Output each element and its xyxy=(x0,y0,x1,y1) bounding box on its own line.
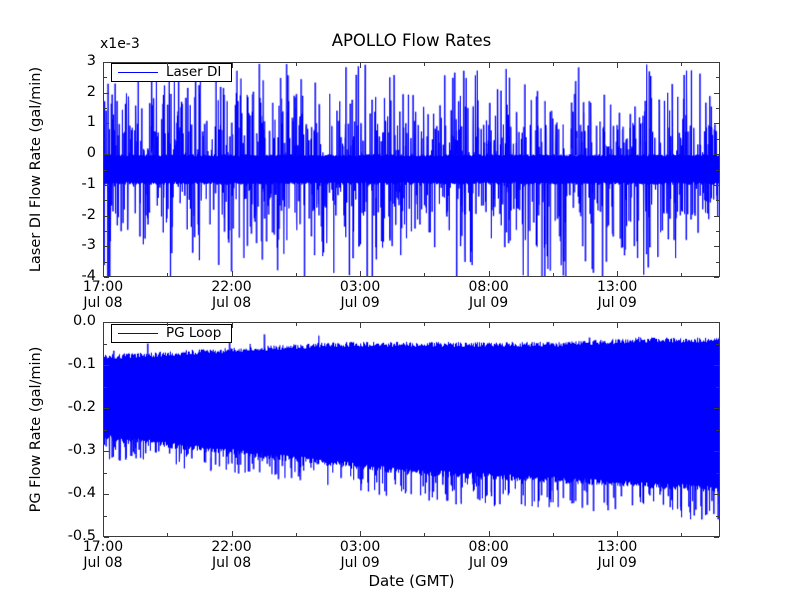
x-tick-time: 13:00 xyxy=(597,539,637,555)
x-axis-tick-mark xyxy=(424,323,425,326)
pg-loop-series-canvas xyxy=(104,323,719,536)
y-axis-tick-mark xyxy=(714,62,719,63)
x-tick-date: Jul 09 xyxy=(439,555,539,571)
y-axis-tick-mark xyxy=(714,216,719,217)
x-axis-tick-mark xyxy=(360,323,361,328)
laser-di-series-canvas xyxy=(104,63,719,276)
bottom-panel-legend: PG Loop xyxy=(111,324,232,343)
y-axis-tick-mark xyxy=(714,365,719,366)
x-axis-tick-mark xyxy=(232,271,233,276)
x-axis-tick-mark xyxy=(167,63,168,66)
top-panel-y-tick-label: -3 xyxy=(0,238,104,253)
legend-line-swatch-laser-di xyxy=(118,72,158,73)
y-axis-tick-mark xyxy=(716,344,719,345)
y-axis-tick-mark xyxy=(104,451,109,452)
y-axis-tick-mark xyxy=(714,154,719,155)
x-axis-tick-mark xyxy=(489,63,490,68)
y-axis-tick-mark xyxy=(104,262,107,263)
y-axis-exponent-label: x1e-3 xyxy=(100,36,140,52)
y-axis-tick-mark xyxy=(714,451,719,452)
x-axis-tick-mark xyxy=(617,531,618,536)
x-tick-date: Jul 09 xyxy=(439,295,539,311)
top-panel-y-tick-label: 1 xyxy=(0,115,104,130)
y-axis-tick-mark xyxy=(716,77,719,78)
legend-label-pg-loop: PG Loop xyxy=(166,326,225,341)
x-axis-tick-mark xyxy=(617,271,618,276)
y-axis-tick-mark xyxy=(714,494,719,495)
x-axis-tick-mark xyxy=(360,271,361,276)
x-tick-time: 08:00 xyxy=(468,279,508,295)
x-tick-time: 17:00 xyxy=(83,279,123,295)
y-axis-tick-mark xyxy=(104,344,107,345)
x-axis-label: Date (GMT) xyxy=(103,572,720,590)
x-axis-tick-mark xyxy=(489,531,490,536)
y-axis-tick-mark xyxy=(714,277,719,278)
x-axis-tick-mark xyxy=(617,323,618,328)
y-axis-tick-mark xyxy=(716,262,719,263)
y-axis-tick-mark xyxy=(104,408,109,409)
x-axis-tick-label: 08:00Jul 09 xyxy=(439,539,539,571)
x-axis-tick-label: 22:00Jul 08 xyxy=(182,539,282,571)
y-axis-tick-mark xyxy=(714,322,719,323)
x-axis-tick-mark xyxy=(296,63,297,66)
x-tick-time: 03:00 xyxy=(340,539,380,555)
x-tick-date: Jul 09 xyxy=(310,555,410,571)
x-axis-tick-mark xyxy=(617,63,618,68)
y-axis-tick-mark xyxy=(104,246,109,247)
y-axis-tick-mark xyxy=(104,231,107,232)
y-axis-tick-mark xyxy=(104,473,107,474)
x-axis-tick-mark xyxy=(360,63,361,68)
x-axis-tick-mark xyxy=(103,531,104,536)
x-axis-tick-label: 17:00Jul 08 xyxy=(53,279,153,311)
y-axis-tick-mark xyxy=(714,93,719,94)
x-axis-tick-mark xyxy=(103,323,104,328)
x-axis-tick-mark xyxy=(103,63,104,68)
bottom-panel-y-tick-label: -0.4 xyxy=(0,486,104,501)
y-axis-tick-mark xyxy=(714,537,719,538)
x-axis-tick-mark xyxy=(681,273,682,276)
x-axis-tick-label: 08:00Jul 09 xyxy=(439,279,539,311)
x-axis-tick-mark xyxy=(489,271,490,276)
top-panel-legend: Laser DI xyxy=(111,63,232,82)
x-tick-time: 13:00 xyxy=(597,279,637,295)
top-panel-y-tick-label: -1 xyxy=(0,177,104,192)
y-axis-tick-mark xyxy=(104,123,109,124)
x-axis-tick-mark xyxy=(103,271,104,276)
x-axis-tick-mark xyxy=(553,63,554,66)
figure-canvas: APOLLO Flow Rates x1e-3 Laser DI Flow Ra… xyxy=(0,0,800,600)
x-axis-tick-mark xyxy=(232,531,233,536)
x-tick-date: Jul 08 xyxy=(182,555,282,571)
x-tick-date: Jul 09 xyxy=(310,295,410,311)
y-axis-tick-mark xyxy=(104,494,109,495)
x-tick-time: 22:00 xyxy=(211,279,251,295)
x-axis-tick-mark xyxy=(296,323,297,326)
x-axis-tick-mark xyxy=(681,63,682,66)
x-axis-tick-mark xyxy=(167,533,168,536)
x-axis-tick-mark xyxy=(489,323,490,328)
x-axis-tick-mark xyxy=(424,273,425,276)
x-tick-date: Jul 09 xyxy=(567,555,667,571)
x-axis-tick-mark xyxy=(360,531,361,536)
bottom-panel-y-tick-label: -0.1 xyxy=(0,357,104,372)
x-axis-tick-label: 13:00Jul 09 xyxy=(567,279,667,311)
y-axis-tick-mark xyxy=(714,246,719,247)
y-axis-tick-mark xyxy=(716,170,719,171)
x-axis-tick-mark xyxy=(681,323,682,326)
y-axis-tick-mark xyxy=(104,537,109,538)
legend-line-swatch-pg-loop xyxy=(118,333,158,334)
y-axis-tick-mark xyxy=(716,139,719,140)
y-axis-tick-mark xyxy=(714,123,719,124)
y-axis-tick-mark xyxy=(104,200,107,201)
top-panel-y-tick-label: -2 xyxy=(0,208,104,223)
y-axis-tick-mark xyxy=(104,62,109,63)
x-axis-tick-mark xyxy=(681,533,682,536)
y-axis-tick-mark xyxy=(104,77,107,78)
x-axis-tick-mark xyxy=(167,273,168,276)
y-axis-tick-mark xyxy=(714,408,719,409)
y-axis-tick-mark xyxy=(104,277,109,278)
y-axis-tick-mark xyxy=(714,185,719,186)
x-axis-tick-mark xyxy=(553,273,554,276)
y-axis-tick-mark xyxy=(104,185,109,186)
x-axis-tick-label: 03:00Jul 09 xyxy=(310,279,410,311)
y-axis-tick-mark xyxy=(104,430,107,431)
top-panel-y-tick-label: 2 xyxy=(0,85,104,100)
x-tick-time: 03:00 xyxy=(340,279,380,295)
x-axis-tick-mark xyxy=(232,323,233,328)
x-axis-tick-label: 13:00Jul 09 xyxy=(567,539,667,571)
y-axis-tick-mark xyxy=(104,322,109,323)
bottom-panel-y-tick-label: -0.2 xyxy=(0,400,104,415)
x-tick-time: 22:00 xyxy=(211,539,251,555)
y-axis-tick-mark xyxy=(104,516,107,517)
chart-title: APOLLO Flow Rates xyxy=(103,31,720,51)
top-panel-y-tick-label: 3 xyxy=(0,54,104,69)
bottom-panel-y-axis-label: PG Flow Rate (gal/min) xyxy=(28,322,44,537)
x-tick-date: Jul 08 xyxy=(53,555,153,571)
x-tick-time: 08:00 xyxy=(468,539,508,555)
bottom-panel-plot-area xyxy=(103,322,720,537)
y-axis-tick-mark xyxy=(104,170,107,171)
x-axis-tick-label: 22:00Jul 08 xyxy=(182,279,282,311)
y-axis-tick-mark xyxy=(716,200,719,201)
y-axis-tick-mark xyxy=(716,430,719,431)
x-axis-tick-mark xyxy=(553,323,554,326)
x-axis-tick-label: 17:00Jul 08 xyxy=(53,539,153,571)
x-tick-date: Jul 08 xyxy=(182,295,282,311)
x-axis-tick-mark xyxy=(424,533,425,536)
y-axis-tick-mark xyxy=(716,108,719,109)
y-axis-tick-mark xyxy=(104,139,107,140)
y-axis-tick-mark xyxy=(104,108,107,109)
x-axis-tick-mark xyxy=(296,273,297,276)
y-axis-tick-mark xyxy=(716,231,719,232)
x-tick-time: 17:00 xyxy=(83,539,123,555)
bottom-panel-y-tick-label: -0.3 xyxy=(0,443,104,458)
y-axis-tick-mark xyxy=(716,473,719,474)
x-axis-tick-mark xyxy=(167,323,168,326)
x-tick-date: Jul 09 xyxy=(567,295,667,311)
x-axis-tick-mark xyxy=(232,63,233,68)
top-panel-plot-area xyxy=(103,62,720,277)
y-axis-tick-mark xyxy=(104,93,109,94)
x-axis-tick-label: 03:00Jul 09 xyxy=(310,539,410,571)
x-axis-tick-mark xyxy=(296,533,297,536)
y-axis-tick-mark xyxy=(104,154,109,155)
bottom-panel-y-tick-label: 0.0 xyxy=(0,314,104,329)
y-axis-tick-mark xyxy=(104,365,109,366)
y-axis-tick-mark xyxy=(716,516,719,517)
top-panel-y-tick-label: 0 xyxy=(0,146,104,161)
y-axis-tick-mark xyxy=(104,387,107,388)
x-axis-tick-mark xyxy=(424,63,425,66)
legend-label-laser-di: Laser DI xyxy=(166,65,225,80)
x-tick-date: Jul 08 xyxy=(53,295,153,311)
x-axis-tick-mark xyxy=(553,533,554,536)
y-axis-tick-mark xyxy=(104,216,109,217)
y-axis-tick-mark xyxy=(716,387,719,388)
